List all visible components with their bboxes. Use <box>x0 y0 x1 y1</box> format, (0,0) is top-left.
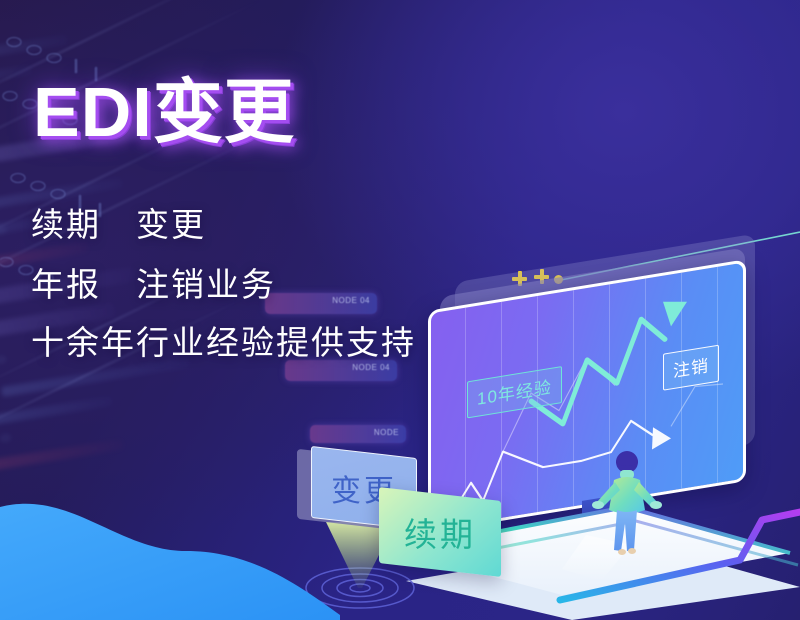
card-renew[interactable]: 续期 <box>379 487 501 577</box>
bottom-wave <box>0 455 340 620</box>
card-renew-label: 续期 <box>404 508 476 556</box>
promo-banner: NODE 04 NODE 04 NODE <box>0 0 800 620</box>
